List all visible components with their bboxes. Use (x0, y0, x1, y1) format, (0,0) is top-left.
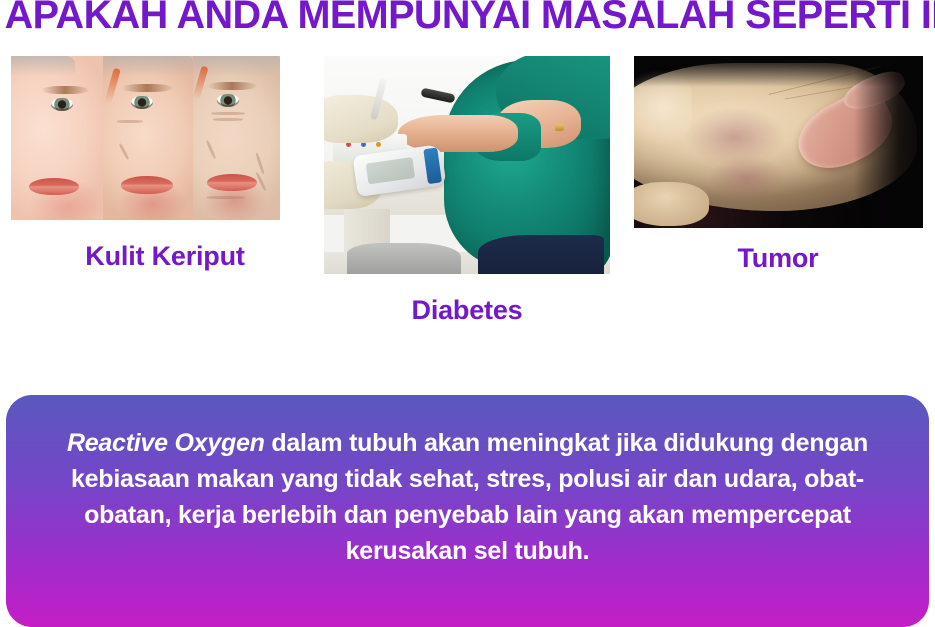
card-tumor: Tumor (634, 56, 923, 228)
face-middle-aged (103, 56, 193, 220)
face-young (11, 56, 103, 220)
latex-glove-icon (324, 95, 398, 143)
image-diabetes (324, 56, 610, 274)
image-kulit-keriput (11, 56, 280, 220)
caption-diabetes: Diabetes (314, 294, 620, 326)
info-banner: Reactive Oxygen dalam tubuh akan meningk… (6, 395, 929, 627)
banner-emphasis-text: Reactive Oxygen (67, 429, 265, 457)
banner-paragraph: Reactive Oxygen dalam tubuh akan meningk… (40, 425, 895, 569)
caption-tumor: Tumor (628, 242, 928, 274)
face-elderly (193, 56, 280, 220)
card-diabetes: Diabetes (324, 56, 610, 274)
caption-kulit-keriput: Kulit Keriput (0, 240, 330, 272)
wedding-ring-icon (555, 124, 564, 131)
image-tumor (634, 56, 923, 228)
problem-cards-row: Kulit Keriput (0, 0, 935, 390)
card-kulit-keriput: Kulit Keriput (11, 56, 280, 220)
